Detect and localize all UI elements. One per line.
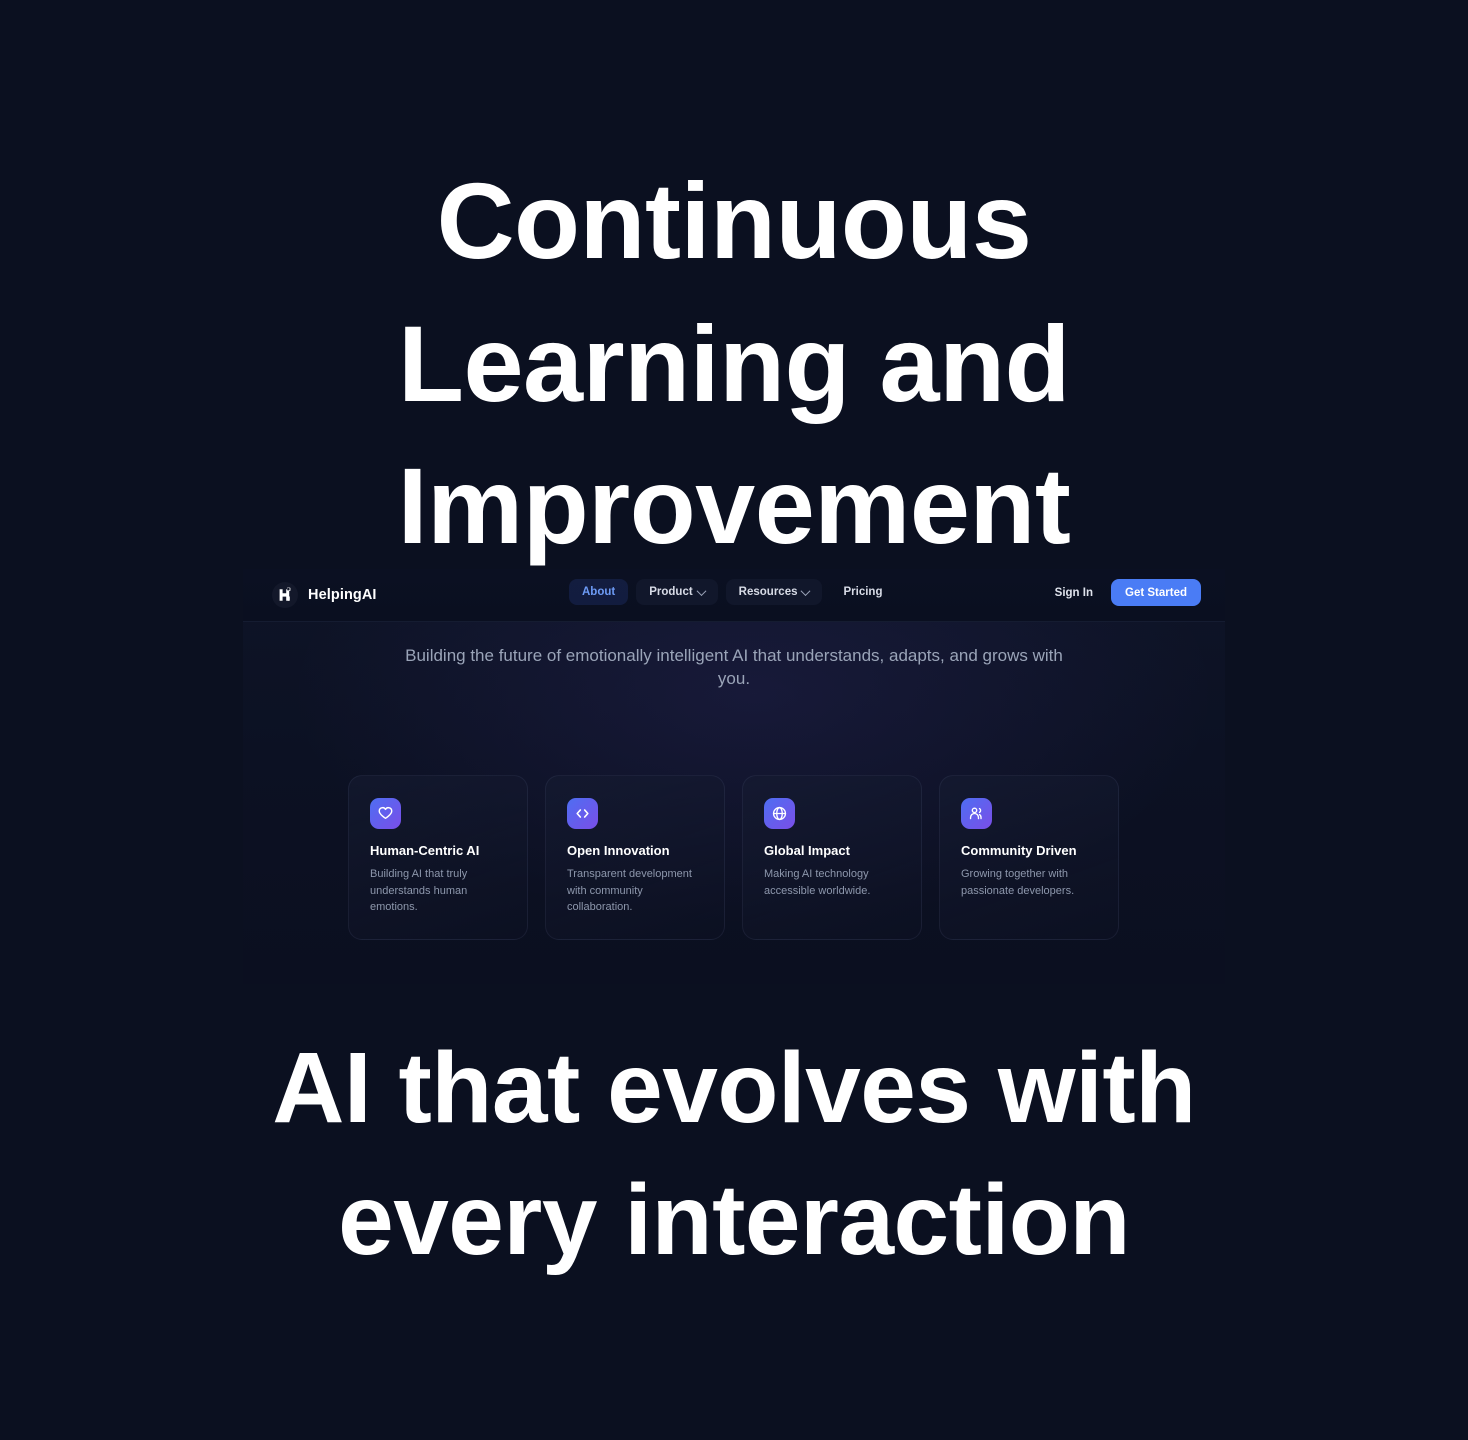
feature-card-desc: Building AI that truly understands human…	[370, 866, 507, 916]
nav-item-about[interactable]: About	[569, 579, 628, 605]
nav-item-product[interactable]: Product	[636, 579, 717, 605]
heart-icon	[370, 798, 401, 829]
feature-card-title: Human-Centric AI	[370, 843, 507, 858]
chevron-down-icon	[696, 586, 706, 596]
globe-icon	[764, 798, 795, 829]
nav-actions: Sign In Get Started	[1051, 579, 1201, 606]
headline-top-line-2: Learning and	[0, 293, 1468, 436]
nav-item-pricing[interactable]: Pricing	[830, 579, 895, 605]
nav-links: About Product Resources Pricing	[569, 579, 895, 605]
headline-top-line-1: Continuous	[0, 150, 1468, 293]
nav-item-resources[interactable]: Resources	[726, 579, 823, 605]
code-brackets-icon	[567, 798, 598, 829]
headline-top: Continuous Learning and Improvement	[0, 150, 1468, 578]
feature-card-community-driven[interactable]: Community Driven Growing together with p…	[939, 775, 1119, 940]
feature-card-desc: Growing together with passionate develop…	[961, 866, 1098, 899]
feature-card-title: Open Innovation	[567, 843, 704, 858]
sign-in-link[interactable]: Sign In	[1051, 587, 1097, 599]
nav-item-product-label: Product	[649, 586, 692, 598]
page-root: Continuous Learning and Improvement Help…	[0, 0, 1468, 1440]
chevron-down-icon	[801, 586, 811, 596]
users-icon	[961, 798, 992, 829]
nav-item-about-label: About	[582, 586, 615, 598]
feature-card-global-impact[interactable]: Global Impact Making AI technology acces…	[742, 775, 922, 940]
feature-card-title: Global Impact	[764, 843, 901, 858]
nav-item-pricing-label: Pricing	[843, 586, 882, 598]
site-navbar: HelpingAI About Product Resources Pricin…	[243, 569, 1225, 622]
website-preview-panel: HelpingAI About Product Resources Pricin…	[243, 569, 1225, 984]
headline-bottom: AI that evolves with every interaction	[0, 1022, 1468, 1286]
feature-card-desc: Making AI technology accessible worldwid…	[764, 866, 901, 899]
nav-item-resources-label: Resources	[739, 586, 798, 598]
headline-bottom-line-2: every interaction	[0, 1154, 1468, 1286]
feature-card-human-centric-ai[interactable]: Human-Centric AI Building AI that truly …	[348, 775, 528, 940]
headline-bottom-line-1: AI that evolves with	[0, 1022, 1468, 1154]
brand-name: HelpingAI	[308, 587, 377, 603]
brand[interactable]: HelpingAI	[272, 582, 377, 608]
hero-subtitle: Building the future of emotionally intel…	[243, 645, 1225, 691]
helpingai-logo-icon	[272, 582, 298, 608]
headline-top-line-3: Improvement	[0, 435, 1468, 578]
feature-card-desc: Transparent development with community c…	[567, 866, 704, 916]
feature-cards: Human-Centric AI Building AI that truly …	[348, 775, 1119, 940]
feature-card-open-innovation[interactable]: Open Innovation Transparent development …	[545, 775, 725, 940]
get-started-button[interactable]: Get Started	[1111, 579, 1201, 606]
feature-card-title: Community Driven	[961, 843, 1098, 858]
